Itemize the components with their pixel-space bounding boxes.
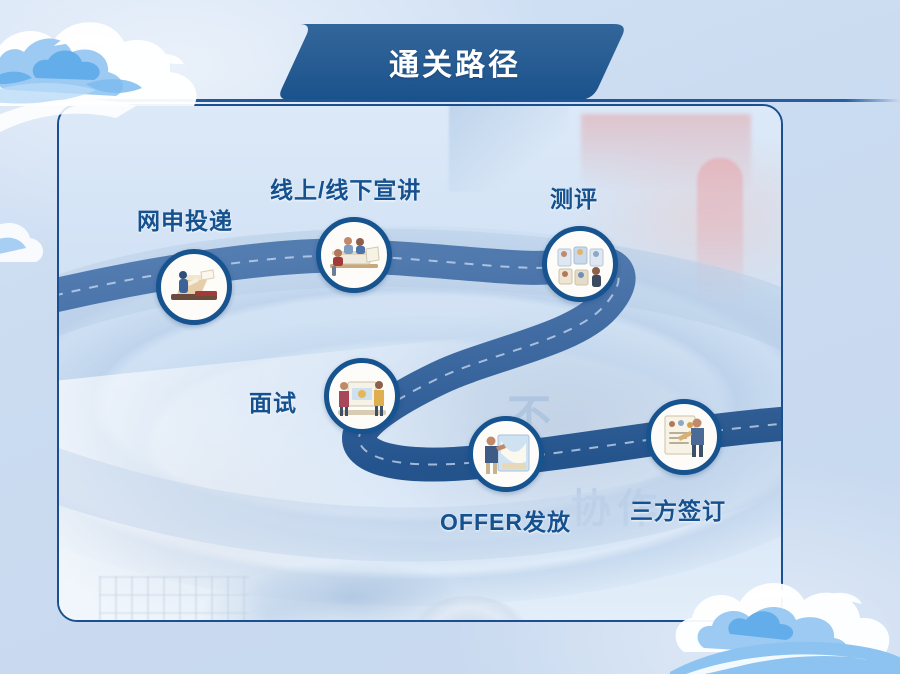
step-label-2: 线上/线下宣讲 [270,171,421,205]
step-label-1: 网申投递 [137,202,233,236]
step-label-4: 面试 [249,384,297,418]
interview-icon [334,370,390,422]
assessment-test-icon [553,237,607,291]
step-node-5[interactable] [468,416,544,492]
step-node-4[interactable] [324,358,400,434]
content-frame: 不 协作 [57,104,783,622]
offer-letter-icon [479,427,533,481]
poster-canvas: 不 协作 [0,0,900,674]
step-label-3: 测评 [550,180,598,214]
step-node-3[interactable] [542,226,618,302]
tripartite-agreement-icon [657,410,711,464]
presentation-meeting-icon [326,228,382,282]
step-label-5: OFFER发放 [440,503,571,537]
step-label-6: 三方签订 [630,492,726,526]
step-node-2[interactable] [316,217,392,293]
online-application-icon [167,260,221,314]
step-node-1[interactable] [156,249,232,325]
title-banner: 通关路径 [276,24,628,100]
step-node-6[interactable] [646,399,722,475]
page-title: 通关路径 [276,24,628,100]
